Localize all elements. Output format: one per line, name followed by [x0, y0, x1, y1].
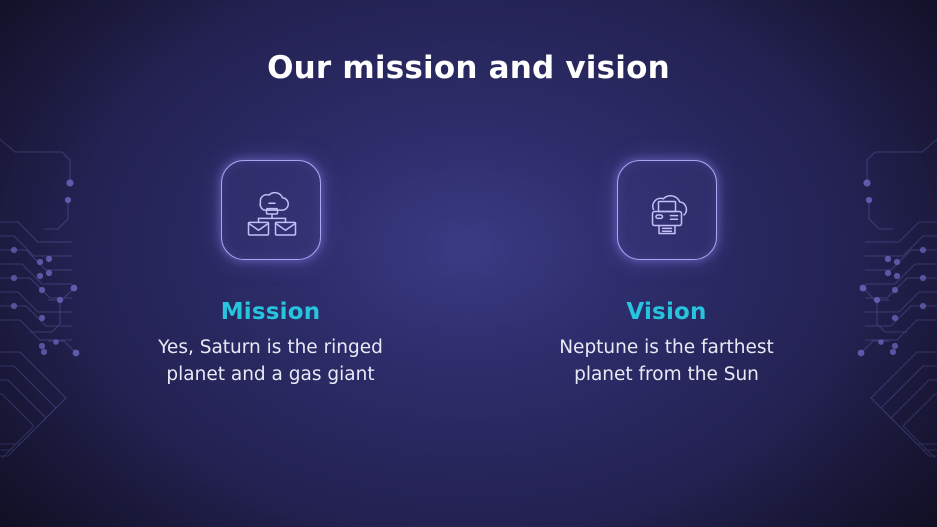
- vision-heading: Vision: [626, 300, 706, 325]
- cloud-printer-icon: [639, 182, 695, 238]
- content-columns: Mission Yes, Saturn is the ringed planet…: [0, 160, 937, 389]
- mission-column: Mission Yes, Saturn is the ringed planet…: [136, 160, 406, 389]
- slide-canvas: Our mission and vision: [0, 0, 937, 527]
- mission-body-text: Yes, Saturn is the ringed planet and a g…: [156, 335, 386, 389]
- vision-icon-card: [617, 160, 717, 260]
- page-title: Our mission and vision: [0, 50, 937, 86]
- cloud-email-distribution-icon: [242, 182, 300, 238]
- vision-body-text: Neptune is the farthest planet from the …: [549, 335, 785, 389]
- mission-heading: Mission: [221, 300, 321, 325]
- mission-icon-card: [221, 160, 321, 260]
- vision-column: Vision Neptune is the farthest planet fr…: [532, 160, 802, 389]
